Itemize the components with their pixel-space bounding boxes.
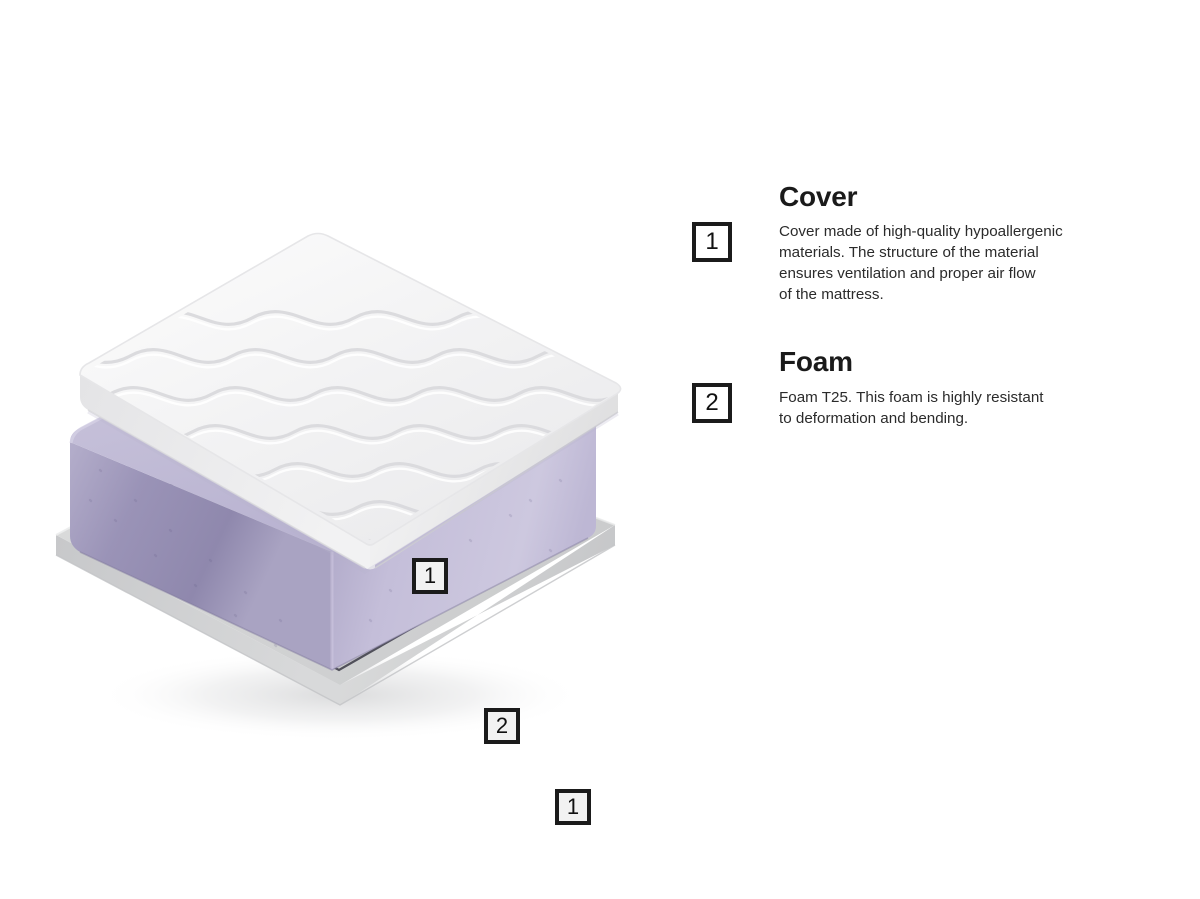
legend-body-foam: Foam Foam T25. This foam is highly resis… (779, 347, 1162, 428)
legend-item-foam: 2 Foam Foam T25. This foam is highly res… (692, 347, 1162, 428)
callout-badge-foam[interactable]: 2 (484, 708, 520, 744)
callout-badge-cover-base[interactable]: 1 (555, 789, 591, 825)
mattress-exploded-illustration: 1 2 1 (40, 200, 660, 740)
legend-badge-1[interactable]: 1 (692, 222, 732, 262)
legend-title-cover: Cover (779, 182, 1162, 211)
legend-body-cover: Cover Cover made of high-quality hypoall… (779, 182, 1162, 305)
mattress-svg (40, 200, 660, 740)
legend-item-cover: 1 Cover Cover made of high-quality hypoa… (692, 182, 1162, 305)
legend-text-cover: Cover made of high-quality hypoallergeni… (779, 221, 1139, 305)
callout-badge-cover-top[interactable]: 1 (412, 558, 448, 594)
legend-panel: 1 Cover Cover made of high-quality hypoa… (692, 182, 1162, 471)
infographic-canvas: 1 2 1 1 Cover Cover made of high-quality… (0, 0, 1200, 899)
legend-text-foam: Foam T25. This foam is highly resistant … (779, 387, 1139, 429)
legend-title-foam: Foam (779, 347, 1162, 376)
legend-badge-2[interactable]: 2 (692, 383, 732, 423)
